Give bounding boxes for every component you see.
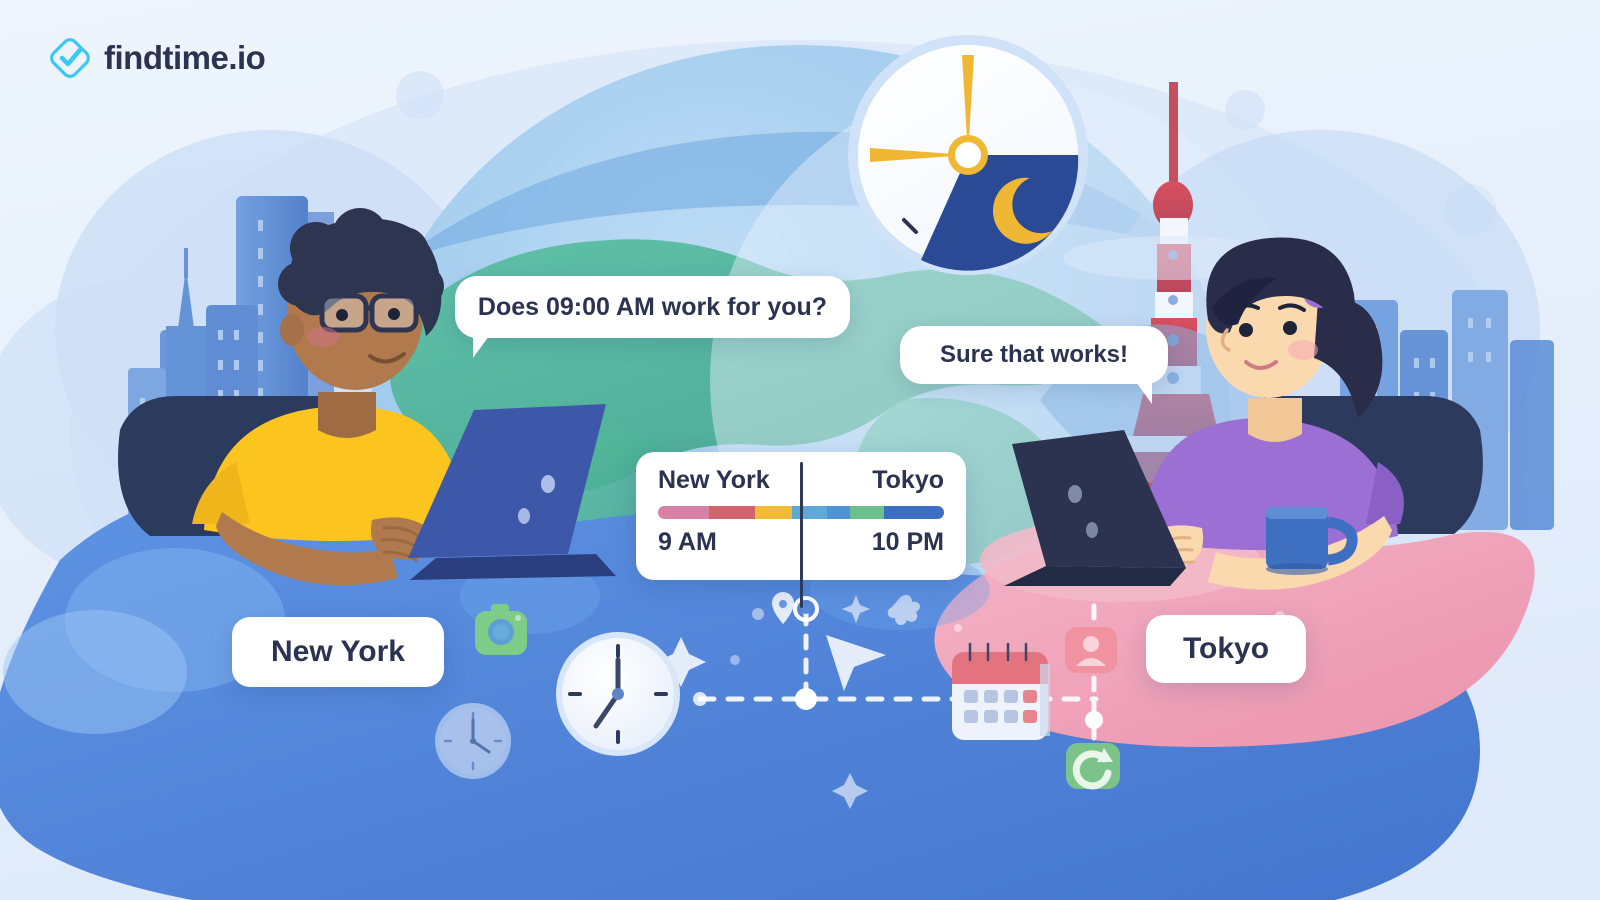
timebar-segment-0	[658, 506, 709, 519]
bubble-tail-left	[473, 336, 489, 358]
timebar-segment-1	[709, 506, 755, 519]
card-city-right: Tokyo	[872, 466, 944, 495]
sync-icon	[1066, 743, 1120, 789]
city-label-tokyo-text: Tokyo	[1183, 632, 1269, 666]
bubble-tail-right	[1136, 382, 1152, 404]
speech-bubble-left-text: Does 09:00 AM work for you?	[478, 293, 827, 322]
diamond-check-icon	[48, 36, 92, 80]
speech-bubble-right: Sure that works!	[900, 326, 1168, 384]
city-label-tokyo: Tokyo	[1146, 615, 1306, 683]
brand-logo[interactable]: findtime.io	[48, 36, 265, 80]
speech-bubble-right-text: Sure that works!	[940, 341, 1128, 369]
timebar-segment-4	[827, 506, 850, 519]
card-divider	[800, 462, 803, 608]
city-label-new-york-text: New York	[271, 635, 405, 669]
camera-icon	[475, 604, 527, 655]
connector-node	[1085, 711, 1103, 729]
calendar-icon	[952, 644, 1050, 740]
card-time-right: 10 PM	[872, 528, 944, 557]
timebar-segment-3	[792, 506, 826, 519]
clock-icon-small	[435, 703, 511, 779]
timebar-segment-6	[884, 506, 944, 519]
city-label-new-york: New York	[232, 617, 444, 687]
background-art	[0, 0, 1600, 900]
connector-node	[795, 688, 817, 710]
brand-name: findtime.io	[104, 39, 265, 77]
timezone-compare-card: New York Tokyo 9 AM 10 PM	[636, 452, 966, 580]
illustration-canvas: findtime.io Does 09:00 AM work for you? …	[0, 0, 1600, 900]
card-city-left: New York	[658, 466, 770, 495]
timebar-segment-5	[850, 506, 884, 519]
contact-icon	[1065, 627, 1117, 673]
card-time-left: 9 AM	[658, 528, 717, 557]
speech-bubble-left: Does 09:00 AM work for you?	[455, 276, 850, 338]
timebar-segment-2	[755, 506, 792, 519]
day-night-clock	[848, 35, 1088, 275]
clock-icon-large	[556, 632, 680, 756]
